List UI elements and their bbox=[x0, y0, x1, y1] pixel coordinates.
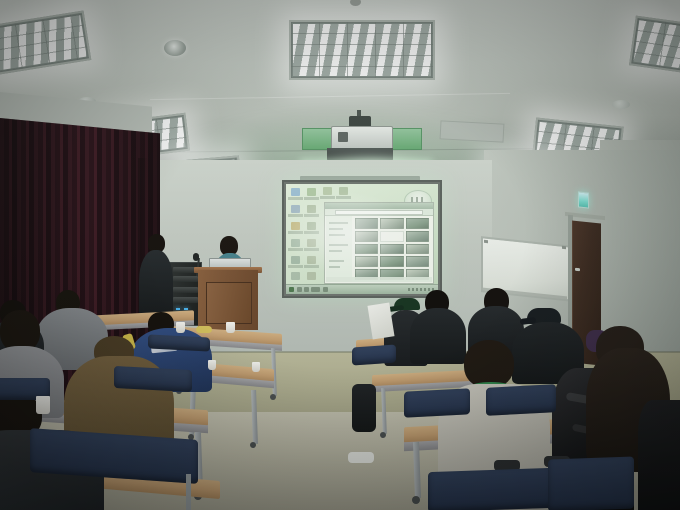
emergency-exit-sign bbox=[578, 191, 589, 208]
thumbnail-item[interactable] bbox=[380, 218, 403, 229]
lecture-hall-photo bbox=[0, 0, 680, 510]
projection-screen bbox=[282, 180, 442, 298]
paper-cup[interactable] bbox=[208, 360, 216, 370]
thumbnail-item[interactable] bbox=[380, 244, 403, 255]
desktop-icon bbox=[291, 188, 300, 196]
whiteboard-clip bbox=[562, 246, 566, 249]
thumbnail-item[interactable] bbox=[355, 256, 378, 267]
chair[interactable] bbox=[352, 344, 396, 365]
chair[interactable] bbox=[114, 366, 192, 392]
microphone-head-icon bbox=[193, 253, 199, 261]
taskbar-window-button[interactable] bbox=[311, 287, 320, 292]
status-led bbox=[176, 308, 180, 310]
quick-launch-icon[interactable] bbox=[297, 287, 302, 292]
attendee-head bbox=[464, 340, 514, 388]
desktop-icon bbox=[339, 187, 348, 195]
thumbnail-item[interactable] bbox=[355, 231, 378, 242]
chair-leg bbox=[186, 474, 191, 510]
chair[interactable] bbox=[428, 468, 552, 510]
desktop-icon bbox=[291, 272, 300, 280]
desktop-icon bbox=[291, 222, 300, 230]
projected-desktop bbox=[286, 184, 438, 294]
explorer-sidebar[interactable] bbox=[326, 216, 352, 282]
podium-front-panel bbox=[206, 282, 252, 324]
thumbnail-item[interactable] bbox=[406, 244, 429, 255]
chair[interactable] bbox=[404, 388, 470, 417]
file-explorer-window[interactable] bbox=[324, 202, 434, 284]
paper-cup[interactable] bbox=[176, 322, 185, 333]
desktop-icon bbox=[307, 205, 316, 213]
door-handle-icon[interactable] bbox=[575, 268, 580, 272]
desktop-icon bbox=[291, 205, 300, 213]
thumbnail-item[interactable] bbox=[380, 256, 403, 267]
thumbnail-grid[interactable] bbox=[355, 218, 429, 280]
start-button[interactable] bbox=[289, 287, 294, 292]
desktop-icon bbox=[291, 256, 300, 264]
attendee-shoe bbox=[348, 452, 374, 463]
desktop-icon bbox=[307, 272, 316, 280]
ceiling-light-panel bbox=[289, 20, 435, 80]
desktop-icon bbox=[307, 256, 316, 264]
chair[interactable] bbox=[486, 384, 556, 416]
paper-cup[interactable] bbox=[36, 396, 50, 414]
chair[interactable] bbox=[548, 456, 634, 510]
desk-caster bbox=[250, 442, 256, 448]
paper-cup[interactable] bbox=[226, 322, 235, 333]
presenter-left-body bbox=[139, 250, 173, 316]
whiteboard-clip bbox=[484, 240, 488, 243]
snack-item bbox=[196, 326, 212, 333]
thumbnail-item[interactable] bbox=[406, 256, 429, 267]
attendee-body bbox=[410, 308, 466, 364]
air-vent bbox=[440, 120, 505, 142]
thumbnail-item[interactable] bbox=[355, 244, 378, 255]
desk-caster bbox=[412, 496, 420, 504]
address-bar[interactable] bbox=[335, 210, 423, 215]
thumbnail-item[interactable] bbox=[355, 218, 378, 229]
smoke-detector-icon bbox=[612, 100, 630, 109]
desktop-icon bbox=[307, 188, 316, 196]
paper-cup[interactable] bbox=[252, 362, 260, 372]
taskbar-window-button[interactable] bbox=[323, 287, 328, 292]
taskbar[interactable] bbox=[286, 284, 438, 294]
attendee-body bbox=[638, 400, 680, 510]
desktop-icon bbox=[323, 187, 332, 195]
desktop-icon bbox=[307, 239, 316, 247]
desk-caster bbox=[270, 394, 276, 400]
thumbnail-item[interactable] bbox=[380, 231, 403, 242]
attendee-legs bbox=[352, 384, 376, 432]
downlight-fixture bbox=[164, 40, 186, 56]
status-bar bbox=[326, 277, 432, 282]
desk-caster bbox=[380, 432, 386, 438]
desktop-icon bbox=[291, 239, 300, 247]
quick-launch-icon[interactable] bbox=[304, 287, 309, 292]
thumbnail-item[interactable] bbox=[406, 218, 429, 229]
desktop-icon bbox=[307, 222, 316, 230]
thumbnail-item[interactable] bbox=[406, 231, 429, 242]
